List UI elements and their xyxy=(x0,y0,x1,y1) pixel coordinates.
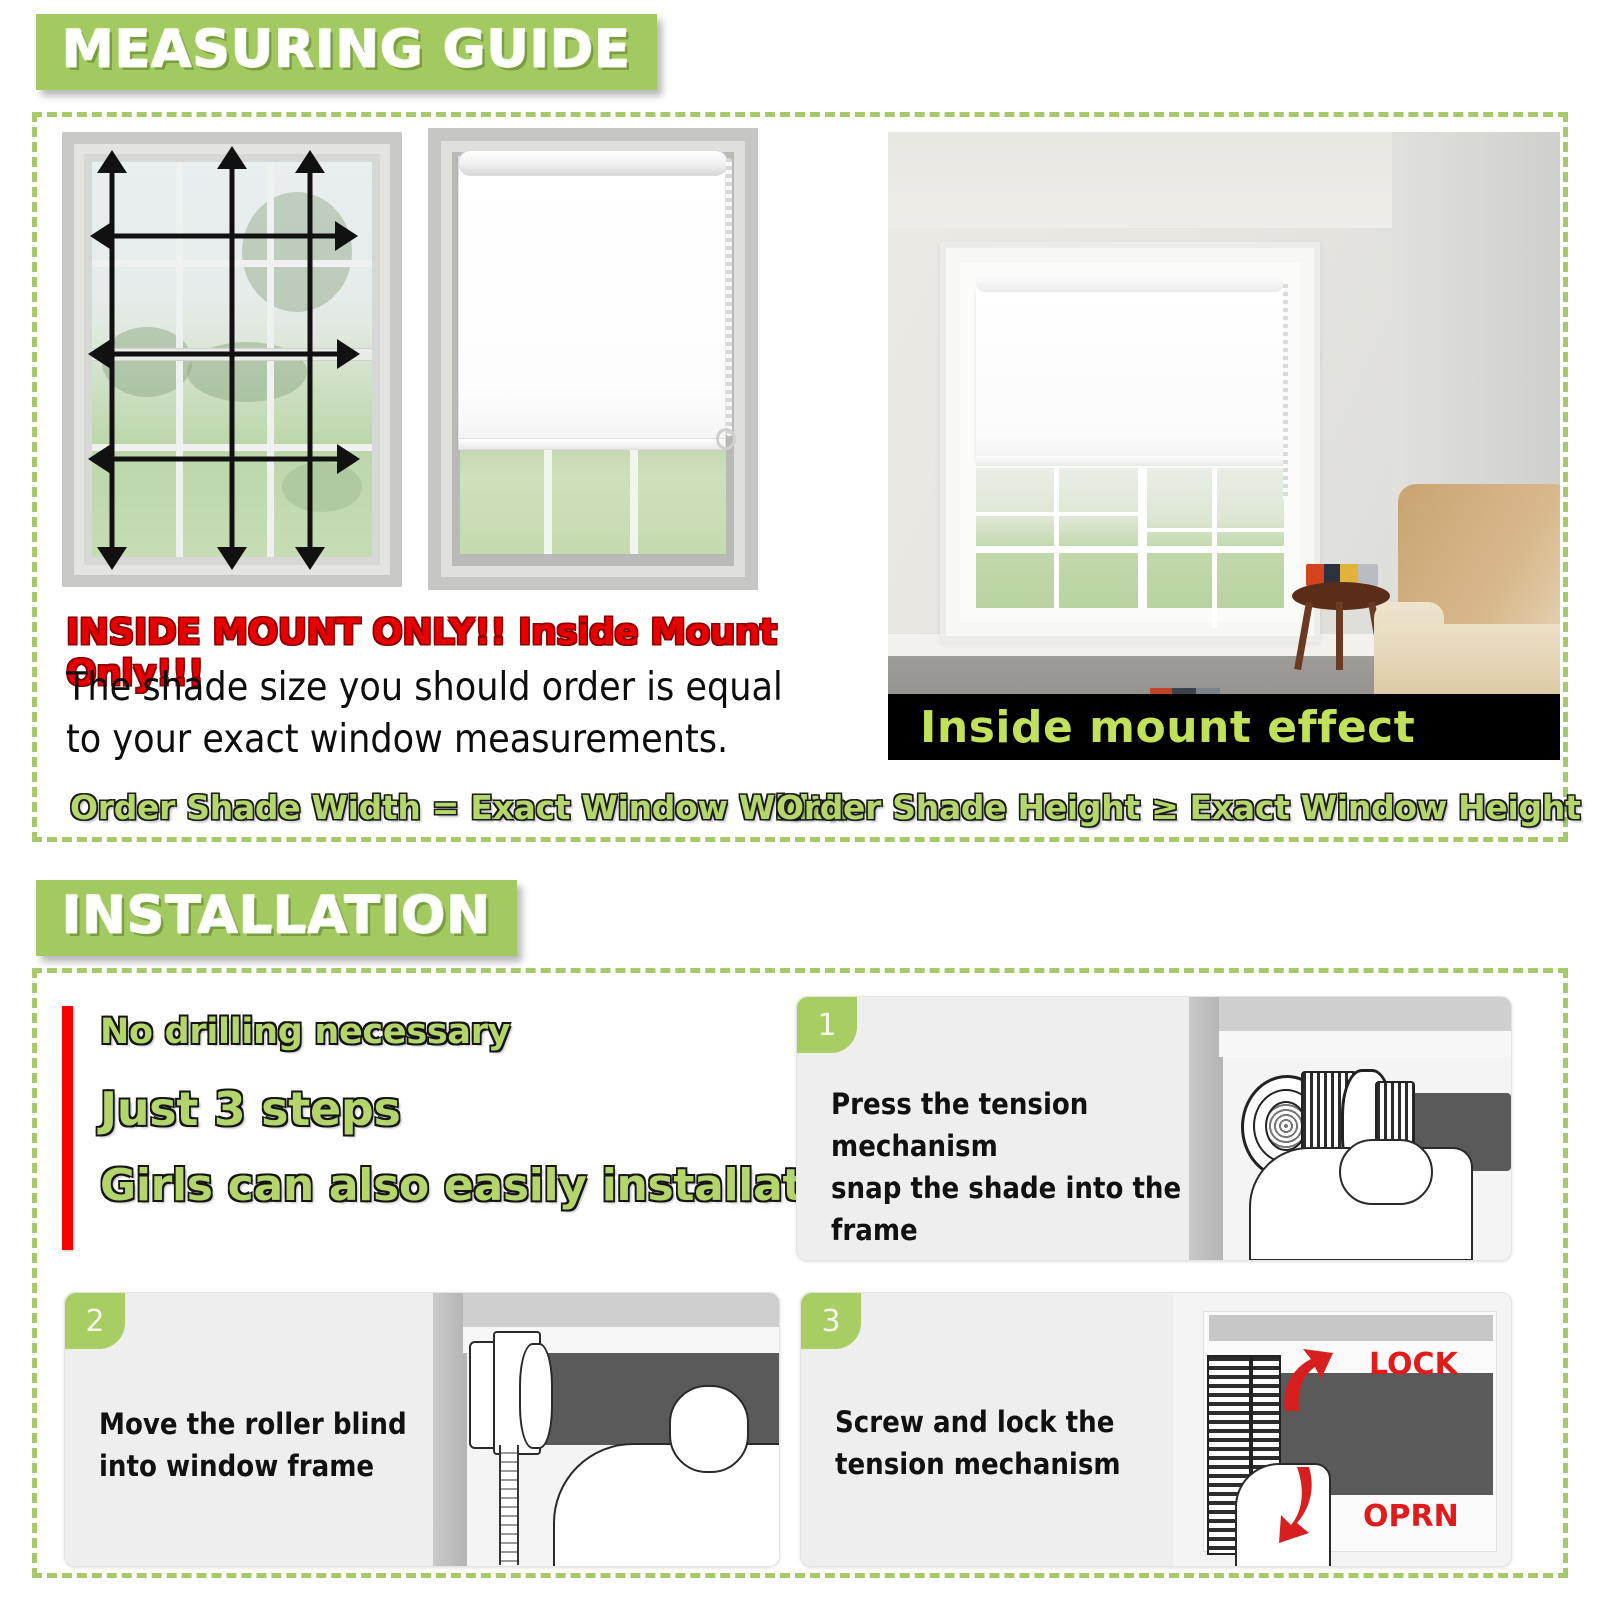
frame-ceiling-face xyxy=(1219,1031,1511,1057)
shade-bottom-rail xyxy=(458,438,726,450)
room-window-inner xyxy=(960,262,1300,622)
room-shade-chain xyxy=(1283,284,1288,499)
measuring-guide-title: MEASURING GUIDE xyxy=(62,20,631,80)
bracket-disc xyxy=(519,1343,553,1449)
tree-shape xyxy=(242,192,352,312)
open-arrow-down-icon xyxy=(1277,1463,1367,1543)
room-window-glass xyxy=(976,468,1284,608)
step-1-illustration xyxy=(1189,997,1511,1260)
step-1-line-2: snap the shade into the frame xyxy=(831,1167,1221,1251)
highlight-easy-installation: Girls can also easily installation xyxy=(100,1160,879,1211)
room-shade-bottom-rail xyxy=(976,456,1284,466)
step-2-number-badge: 2 xyxy=(65,1293,125,1349)
step-3-illustration: LOCK OPRN xyxy=(1173,1293,1511,1566)
installation-step-1-card: 1 Press the tension mechanism snap the s… xyxy=(796,996,1512,1261)
installation-step-2-card: 2 Move the roller blind into window fram… xyxy=(64,1292,780,1567)
formula-shade-height: Order Shade Height ≥ Exact Window Height xyxy=(776,788,1581,827)
step-1-line-1: Press the tension mechanism xyxy=(831,1083,1221,1167)
photo-caption-bar: Inside mount effect xyxy=(888,694,1560,760)
inside-mount-room-photo: Inside mount effect xyxy=(888,132,1560,760)
measuring-guide-banner: MEASURING GUIDE xyxy=(36,14,657,90)
frame-wall-edge xyxy=(1189,997,1223,1260)
shade-roller-tube xyxy=(458,150,728,176)
step-2-line-2: into window frame xyxy=(99,1445,459,1487)
hand-illustration xyxy=(553,1443,779,1566)
thumb-illustration xyxy=(669,1385,749,1473)
step-3-line-1: Screw and lock the xyxy=(835,1401,1195,1443)
step-3-line-2: tension mechanism xyxy=(835,1443,1195,1485)
open-label: OPRN xyxy=(1363,1499,1459,1534)
thumb-illustration xyxy=(1339,1139,1433,1205)
step-2-number: 2 xyxy=(85,1304,104,1339)
bead-chain xyxy=(499,1445,519,1565)
installation-step-3-card: 3 Screw and lock the tension mechanism L… xyxy=(800,1292,1512,1567)
step-1-text: Press the tension mechanism snap the sha… xyxy=(831,1083,1221,1251)
photo-caption-text: Inside mount effect xyxy=(888,702,1415,753)
head-rail xyxy=(1209,1315,1493,1341)
shade-fabric xyxy=(458,156,726,446)
installation-banner: INSTALLATION xyxy=(36,880,517,956)
roller-shade-diagram xyxy=(428,128,758,590)
installation-title: INSTALLATION xyxy=(62,886,491,946)
room-shade-tube xyxy=(976,274,1284,292)
step-2-text: Move the roller blind into window frame xyxy=(99,1403,459,1487)
step-2-line-1: Move the roller blind xyxy=(99,1403,459,1445)
frame-wall-edge xyxy=(433,1293,467,1566)
highlight-just-3-steps: Just 3 steps xyxy=(100,1082,401,1136)
order-size-description: The shade size you should order is equal… xyxy=(66,662,806,766)
step-3-text: Screw and lock the tension mechanism xyxy=(835,1401,1195,1485)
highlight-no-drilling: No drilling necessary xyxy=(100,1012,510,1052)
room-roller-shade xyxy=(976,288,1284,460)
side-table-leg-2 xyxy=(1336,602,1343,670)
window-measurement-diagram xyxy=(62,132,402,587)
room-window-frame xyxy=(940,242,1320,642)
shade-chain-loop xyxy=(716,428,736,450)
step-3-number: 3 xyxy=(821,1304,840,1339)
red-accent-bar xyxy=(62,1006,73,1250)
lock-label: LOCK xyxy=(1369,1347,1458,1382)
shade-bead-chain xyxy=(726,158,732,436)
step-2-illustration xyxy=(433,1293,779,1566)
step-1-number-badge: 1 xyxy=(797,997,857,1053)
step-3-number-badge: 3 xyxy=(801,1293,861,1349)
formula-shade-width: Order Shade Width = Exact Window Width xyxy=(70,788,848,827)
lock-arrow-up-icon xyxy=(1277,1345,1367,1415)
step-1-number: 1 xyxy=(817,1008,836,1043)
